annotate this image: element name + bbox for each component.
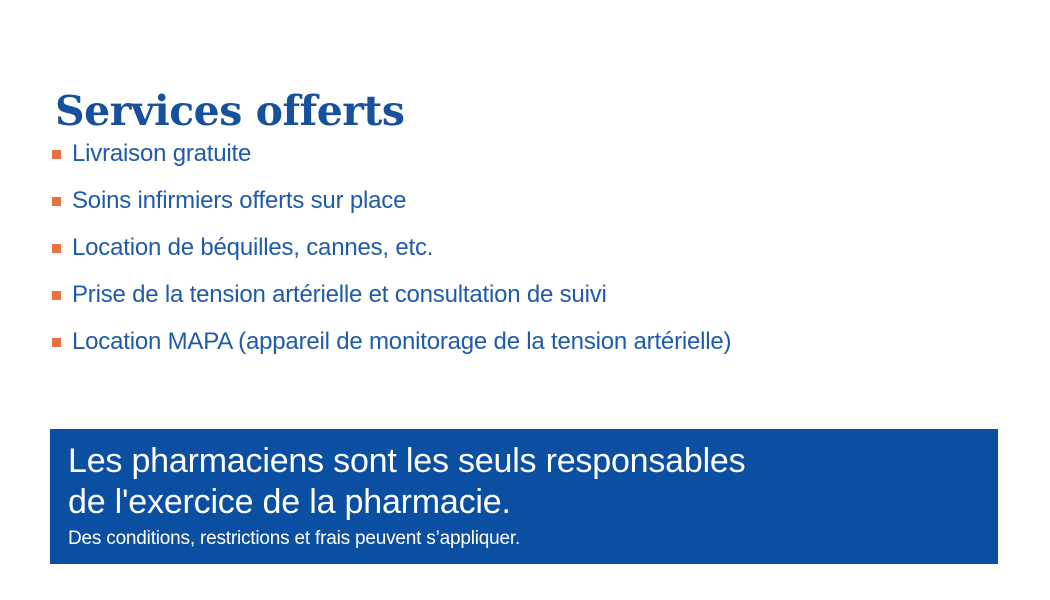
callout-headline: Les pharmaciens sont les seuls responsab… — [68, 441, 998, 523]
list-item-label: Soins infirmiers offerts sur place — [72, 187, 992, 215]
square-bullet-icon — [52, 197, 61, 206]
list-item-label: Location MAPA (appareil de monitorage de… — [72, 328, 992, 356]
callout-subline: Des conditions, restrictions et frais pe… — [68, 527, 998, 551]
list-item: Location de béquilles, cannes, etc. — [52, 234, 992, 281]
list-item: Livraison gratuite — [52, 140, 992, 187]
list-item-label: Prise de la tension artérielle et consul… — [72, 281, 992, 309]
services-bullet-list: Livraison gratuite Soins infirmiers offe… — [52, 140, 992, 375]
list-item: Location MAPA (appareil de monitorage de… — [52, 328, 992, 375]
list-item: Soins infirmiers offerts sur place — [52, 187, 992, 234]
page-title: Services offerts — [55, 87, 404, 135]
slide-canvas: Services offerts Livraison gratuite Soin… — [0, 0, 1050, 600]
square-bullet-icon — [52, 244, 61, 253]
list-item: Prise de la tension artérielle et consul… — [52, 281, 992, 328]
square-bullet-icon — [52, 338, 61, 347]
disclaimer-callout-box: Les pharmaciens sont les seuls responsab… — [50, 429, 998, 564]
list-item-label: Location de béquilles, cannes, etc. — [72, 234, 992, 262]
list-item-label: Livraison gratuite — [72, 140, 992, 168]
square-bullet-icon — [52, 291, 61, 300]
square-bullet-icon — [52, 150, 61, 159]
